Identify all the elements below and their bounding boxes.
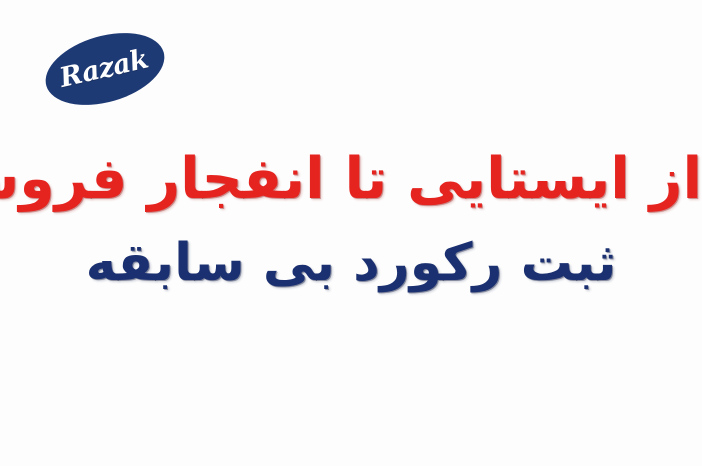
headline-secondary: ثبت رکورد بی سابقه (0, 234, 702, 292)
razak-logo[interactable]: Razak (44, 36, 166, 102)
logo-brand-text: Razak (57, 45, 153, 94)
headline-primary: از ایستایی تا انفجار فروش (0, 148, 702, 212)
logo-wordmark: Razak (38, 23, 172, 115)
promo-banner: Razak از ایستایی تا انفجار فروش ثبت رکور… (0, 0, 702, 466)
